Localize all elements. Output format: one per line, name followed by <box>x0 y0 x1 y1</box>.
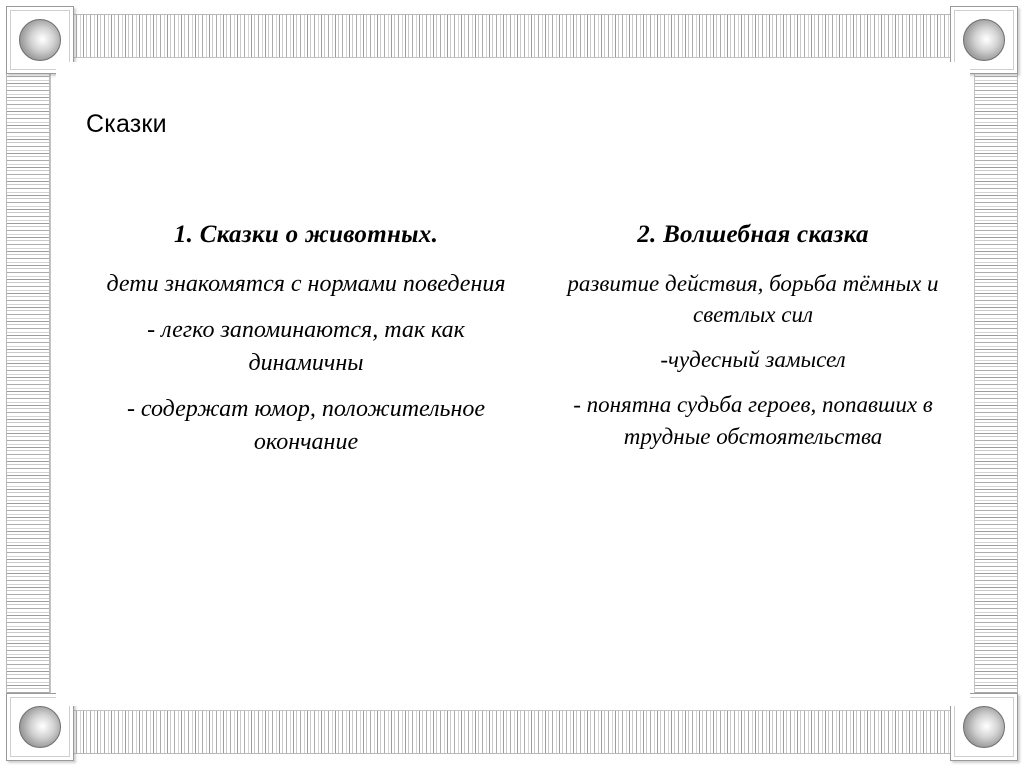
column-paragraph: - содержат юмор, положительное окончание <box>92 393 520 458</box>
page-title: Сказки <box>86 110 167 139</box>
rivet-sphere-icon <box>19 19 61 61</box>
column-paragraph: дети знакомятся с нормами поведения <box>92 268 520 301</box>
column-paragraph: -чудесный замысел <box>560 344 946 375</box>
frame-strip-right <box>974 68 1018 700</box>
column-paragraph: развитие действия, борьба тёмных и светл… <box>560 268 946 331</box>
column-heading: 1. Сказки о животных. <box>92 220 520 250</box>
frame-strip-bottom <box>68 710 956 754</box>
column-paragraph: - легко запоминаются, так как динамичны <box>92 314 520 379</box>
rivet-sphere-icon <box>963 706 1005 748</box>
column-paragraph: - понятна судьба героев, попавших в труд… <box>560 389 946 452</box>
frame-strip-top <box>68 14 956 58</box>
rivet-sphere-icon <box>963 19 1005 61</box>
column-heading: 2. Волшебная сказка <box>560 220 946 250</box>
slide-content-area: Сказки 1. Сказки о животных. дети знаком… <box>56 62 970 706</box>
slide-canvas: Сказки 1. Сказки о животных. дети знаком… <box>0 0 1024 767</box>
column-magic-tales: 2. Волшебная сказка развитие действия, б… <box>550 220 970 452</box>
column-animal-tales: 1. Сказки о животных. дети знакомятся с … <box>56 220 550 459</box>
two-column-body: 1. Сказки о животных. дети знакомятся с … <box>56 220 970 459</box>
frame-strip-left <box>6 68 50 700</box>
rivet-sphere-icon <box>19 706 61 748</box>
